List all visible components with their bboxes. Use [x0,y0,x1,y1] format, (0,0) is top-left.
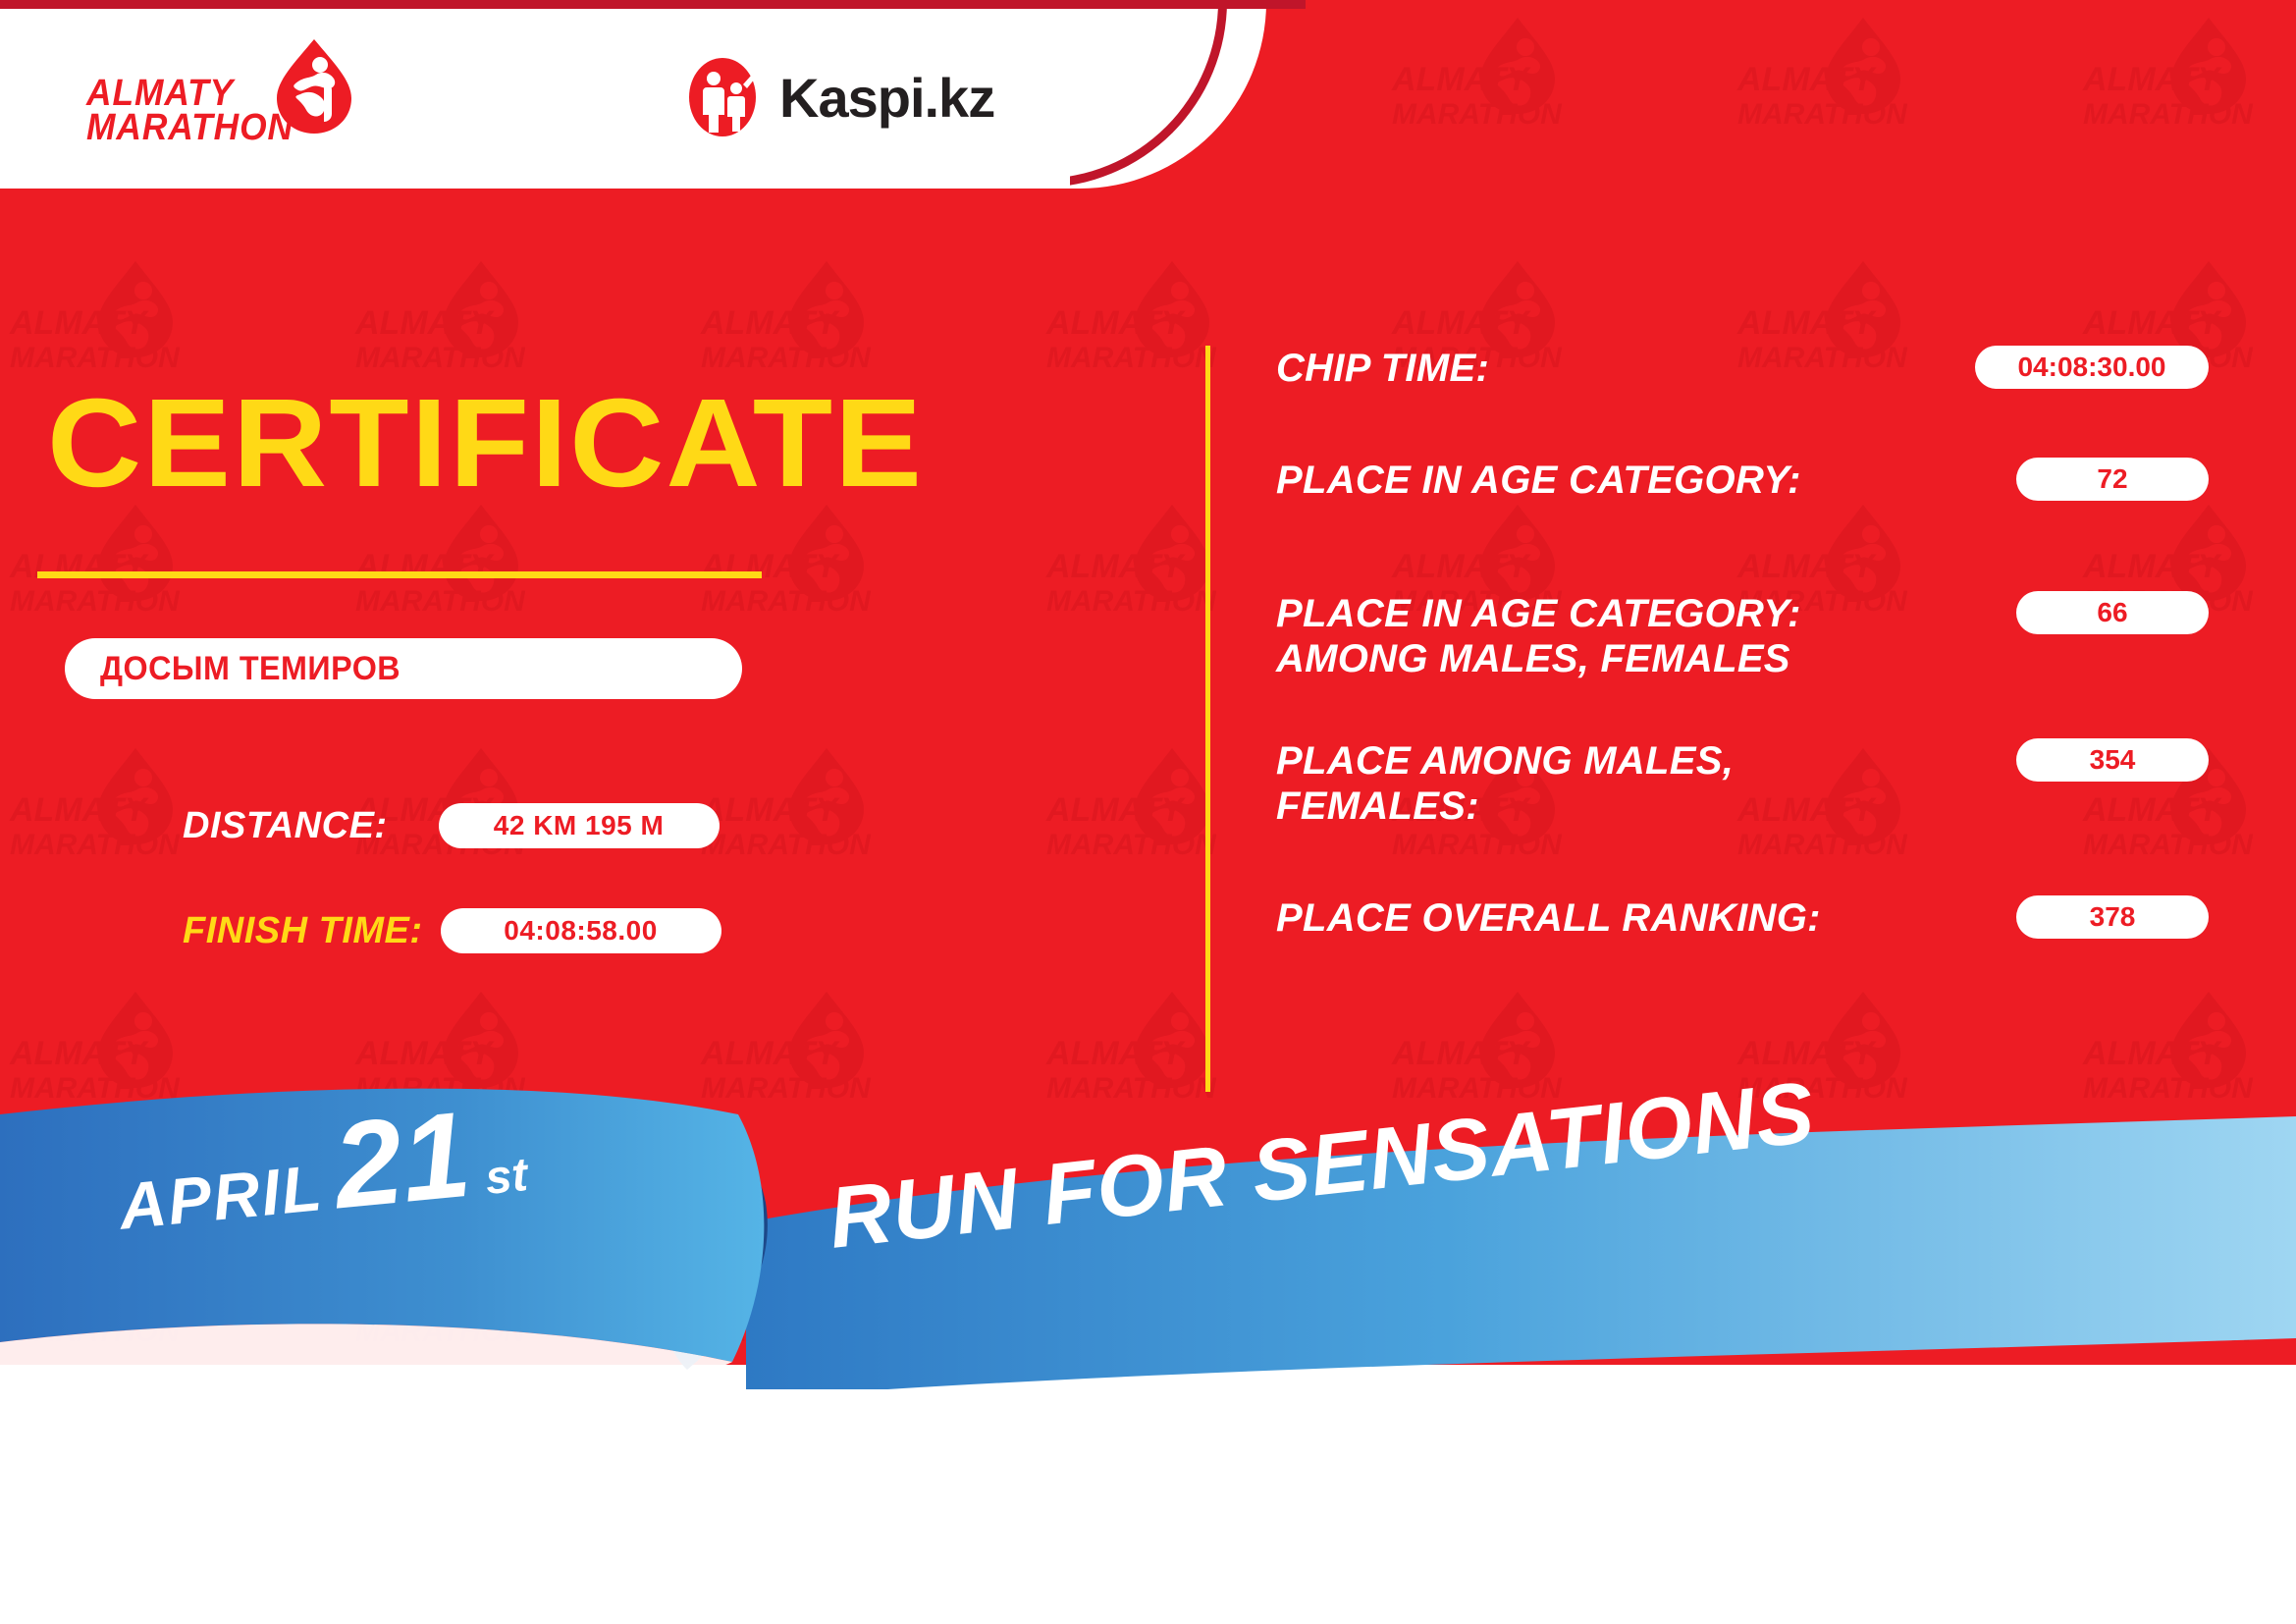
result-label: PLACE IN AGE CATEGORY: [1276,458,1801,503]
title-underline [37,571,762,578]
result-value: 354 [2016,738,2209,782]
result-label: PLACE IN AGE CATEGORY: AMONG MALES, FEMA… [1276,591,1801,681]
column-divider [1205,346,1210,1092]
logo-row: ALMATY MARATHON Kaspi.kz [0,0,1266,189]
result-row-overall-ranking: PLACE OVERALL RANKING: 378 [1276,895,2209,941]
almaty-marathon-wordmark: ALMATY MARATHON [86,77,294,145]
result-label: PLACE OVERALL RANKING: [1276,895,1821,941]
event-day: 21 [330,1101,475,1222]
result-row-place-among-gender: PLACE AMONG MALES, FEMALES: 354 [1276,738,2209,829]
logo-line-2: MARATHON [86,111,294,145]
distance-label: DISTANCE: [183,805,388,847]
finish-time-value: 04:08:58.00 [441,908,721,953]
result-value: 72 [2016,458,2209,501]
distance-value: 42 KM 195 M [439,803,720,848]
result-row-chip-time: CHIP TIME: 04:08:30.00 [1276,346,2209,391]
certificate-page: ALMATY MARATHON Kaspi.kz CERTIFICATE ДОС… [0,0,2296,1624]
result-value: 66 [2016,591,2209,634]
almaty-marathon-logo: ALMATY MARATHON [86,37,381,150]
event-day-suffix: st [483,1148,530,1206]
kaspi-people-icon [687,57,758,137]
athlete-name-value: ДОСЫМ ТЕМИРОВ [100,650,400,688]
result-value: 04:08:30.00 [1975,346,2209,389]
finish-time-row: FINISH TIME: 04:08:58.00 [183,908,721,953]
distance-row: DISTANCE: 42 KM 195 M [183,803,720,848]
result-label: CHIP TIME: [1276,346,1489,391]
result-label: PLACE AMONG MALES, FEMALES: [1276,738,1734,829]
page-title: CERTIFICATE [47,381,924,507]
finish-time-label: FINISH TIME: [183,910,423,952]
sponsor-bar [0,1389,2296,1624]
athlete-name-field: ДОСЫМ ТЕМИРОВ [65,638,742,699]
logo-line-1: ALMATY [86,77,294,111]
kaspi-wordmark: Kaspi.kz [779,66,994,130]
result-row-place-age-category-gender: PLACE IN AGE CATEGORY: AMONG MALES, FEMA… [1276,591,2209,681]
result-value: 378 [2016,895,2209,939]
kaspi-logo: Kaspi.kz [687,57,994,137]
result-row-place-age-category: PLACE IN AGE CATEGORY: 72 [1276,458,2209,503]
